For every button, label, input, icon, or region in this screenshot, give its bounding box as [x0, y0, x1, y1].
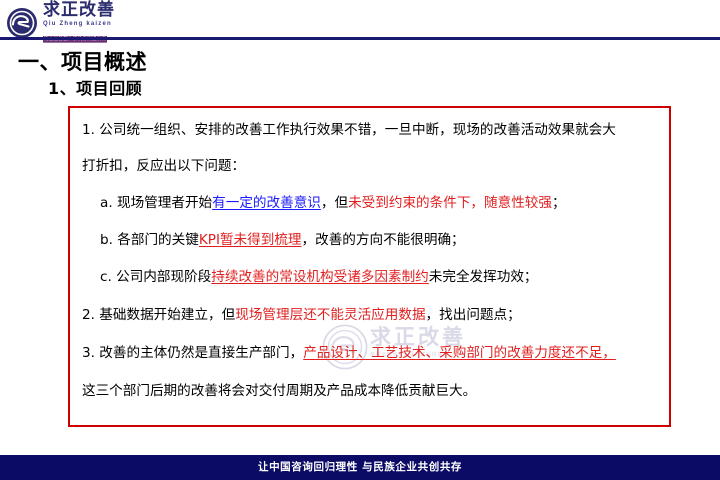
item-3-cont-seg-0: 这三个部门后期的改善将会对交付周期及产品成本降低贡献巨大。 [82, 383, 476, 399]
item-a-seg-0: a. 现场管理者开始 [100, 195, 212, 211]
item-b-seg-2: ，改善的方向不能很明确； [302, 232, 465, 248]
content-frame: 求正改善 精益运营整体解决方案提供商 1. 公司统一组织、安排的改善工作执行效果… [68, 106, 671, 427]
item-1-cont: 打折扣，反应出以下问题： [82, 158, 245, 175]
item-b-seg-0: b. 各部门的关键 [100, 232, 199, 248]
item-3-seg-0: 3. 改善的主体仍然是直接生产部门， [82, 345, 303, 361]
item-a-seg-1: 有一定的改善意识 [212, 195, 321, 211]
page-title: 一、项目概述 [18, 46, 147, 76]
item-a-seg-2: ，但 [321, 195, 348, 211]
item-1-cont-seg-0: 打折扣，反应出以下问题： [82, 158, 245, 174]
item-a: a. 现场管理者开始有一定的改善意识，但未受到约束的条件下，随意性较强； [100, 195, 566, 212]
item-2: 2. 基础数据开始建立，但现场管理层还不能灵活应用数据，找出问题点； [82, 307, 521, 324]
item-1-seg-0: 1. 公司统一组织、安排的改善工作执行效果不错，一旦中断，现场的改善活动效果就会… [82, 122, 616, 138]
slide-header: 求正改善 Qiu Zheng kaizen 精益运营整体解决方案提供商 [0, 0, 720, 40]
item-c-seg-2: 未完全发挥功效； [429, 269, 538, 285]
qiuzheng-circle-logo-icon [6, 7, 38, 39]
item-2-seg-2: ，找出问题点； [426, 307, 521, 323]
item-2-seg-0: 2. 基础数据开始建立，但 [82, 307, 235, 323]
item-b-seg-1: KPI暂未得到梳理 [199, 232, 302, 248]
slide-footer: 让中国咨询回归理性 与民族企业共创共存 [0, 455, 720, 480]
brand-name-cn: 求正改善 [43, 2, 115, 19]
slide-canvas: 求正改善 Qiu Zheng kaizen 精益运营整体解决方案提供商 一、项目… [0, 0, 720, 480]
content-lines: 1. 公司统一组织、安排的改善工作执行效果不错，一旦中断，现场的改善活动效果就会… [70, 108, 673, 429]
header-divider [0, 37, 720, 40]
item-c-seg-1: 持续改善的常设机构受诸多因素制约 [211, 269, 429, 285]
item-a-seg-4: ； [552, 195, 566, 211]
item-b: b. 各部门的关键KPI暂未得到梳理，改善的方向不能很明确； [100, 232, 465, 249]
page-subtitle: 1、项目回顾 [48, 75, 142, 99]
brand-name-pinyin: Qiu Zheng kaizen [43, 20, 115, 28]
item-3: 3. 改善的主体仍然是直接生产部门，产品设计、工艺技术、采购部门的改善力度还不足… [82, 345, 616, 362]
item-3-cont: 这三个部门后期的改善将会对交付周期及产品成本降低贡献巨大。 [82, 383, 476, 400]
footer-slogan: 让中国咨询回归理性 与民族企业共创共存 [0, 455, 720, 480]
item-c-seg-0: c. 公司内部现阶段 [100, 269, 211, 285]
item-c: c. 公司内部现阶段持续改善的常设机构受诸多因素制约未完全发挥功效； [100, 269, 538, 286]
item-3-seg-1: 产品设计、工艺技术、采购部门的改善力度还不足， [303, 345, 616, 361]
item-1: 1. 公司统一组织、安排的改善工作执行效果不错，一旦中断，现场的改善活动效果就会… [82, 122, 616, 139]
item-a-seg-3: 未受到约束的条件下，随意性较强 [348, 195, 552, 211]
item-2-seg-1: 现场管理层还不能灵活应用数据 [235, 307, 425, 323]
